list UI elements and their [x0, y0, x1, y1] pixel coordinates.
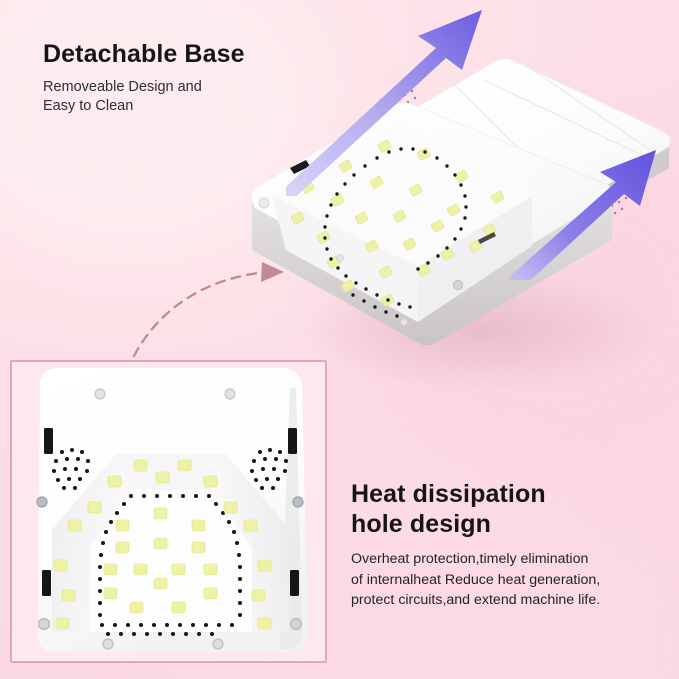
closeup-screw-front-left [103, 639, 113, 649]
heat-dissipation-title-line1: Heat dissipation [351, 479, 651, 509]
heat-dissipation-body: Overheat protection,timely elimination o… [351, 549, 651, 611]
closeup-bracket-top-right [288, 428, 297, 454]
closeup-screw-top-right [225, 389, 235, 399]
closeup-screw-mid-left [37, 497, 47, 507]
detachable-base-title: Detachable Base [43, 40, 245, 69]
heat-dissipation-body-line3: protect circuits,and extend machine life… [351, 590, 651, 611]
heat-dissipation-body-line2: of internalheat Reduce heat generation, [351, 570, 651, 591]
closeup-screw-top-left [95, 389, 105, 399]
closeup-screw-bottom-left [39, 619, 50, 630]
closeup-screw-mid-right [293, 497, 303, 507]
closeup-bracket-top-left [44, 428, 53, 454]
closeup-screw-front-right [213, 639, 223, 649]
closeup-bracket-bottom-left [42, 570, 51, 596]
lamp-interior-closeup-illustration [12, 362, 325, 661]
feature-block-detachable-base: Detachable Base Removeable Design and Ea… [43, 40, 245, 116]
infographic-canvas: Detachable Base Removeable Design and Ea… [0, 0, 679, 679]
detachable-base-subtitle-line2: Easy to Clean [43, 97, 245, 116]
closeup-bracket-bottom-right [290, 570, 299, 596]
lamp-screw-right [453, 280, 462, 289]
closeup-inset-panel [10, 360, 327, 663]
heat-dissipation-body-line1: Overheat protection,timely elimination [351, 549, 651, 570]
lamp-screw-front [401, 319, 407, 325]
lamp-screw-inner-left [337, 255, 344, 262]
feature-block-heat-dissipation: Heat dissipation hole design Overheat pr… [351, 479, 651, 611]
closeup-screw-bottom-right [291, 619, 302, 630]
detachable-base-subtitle: Removeable Design and Easy to Clean [43, 78, 245, 116]
lamp-screw-left [259, 198, 269, 208]
heat-dissipation-title-line2: hole design [351, 509, 651, 539]
detachable-base-subtitle-line1: Removeable Design and [43, 78, 245, 97]
heat-dissipation-title: Heat dissipation hole design [351, 479, 651, 539]
product-illustration-main [232, 0, 679, 400]
